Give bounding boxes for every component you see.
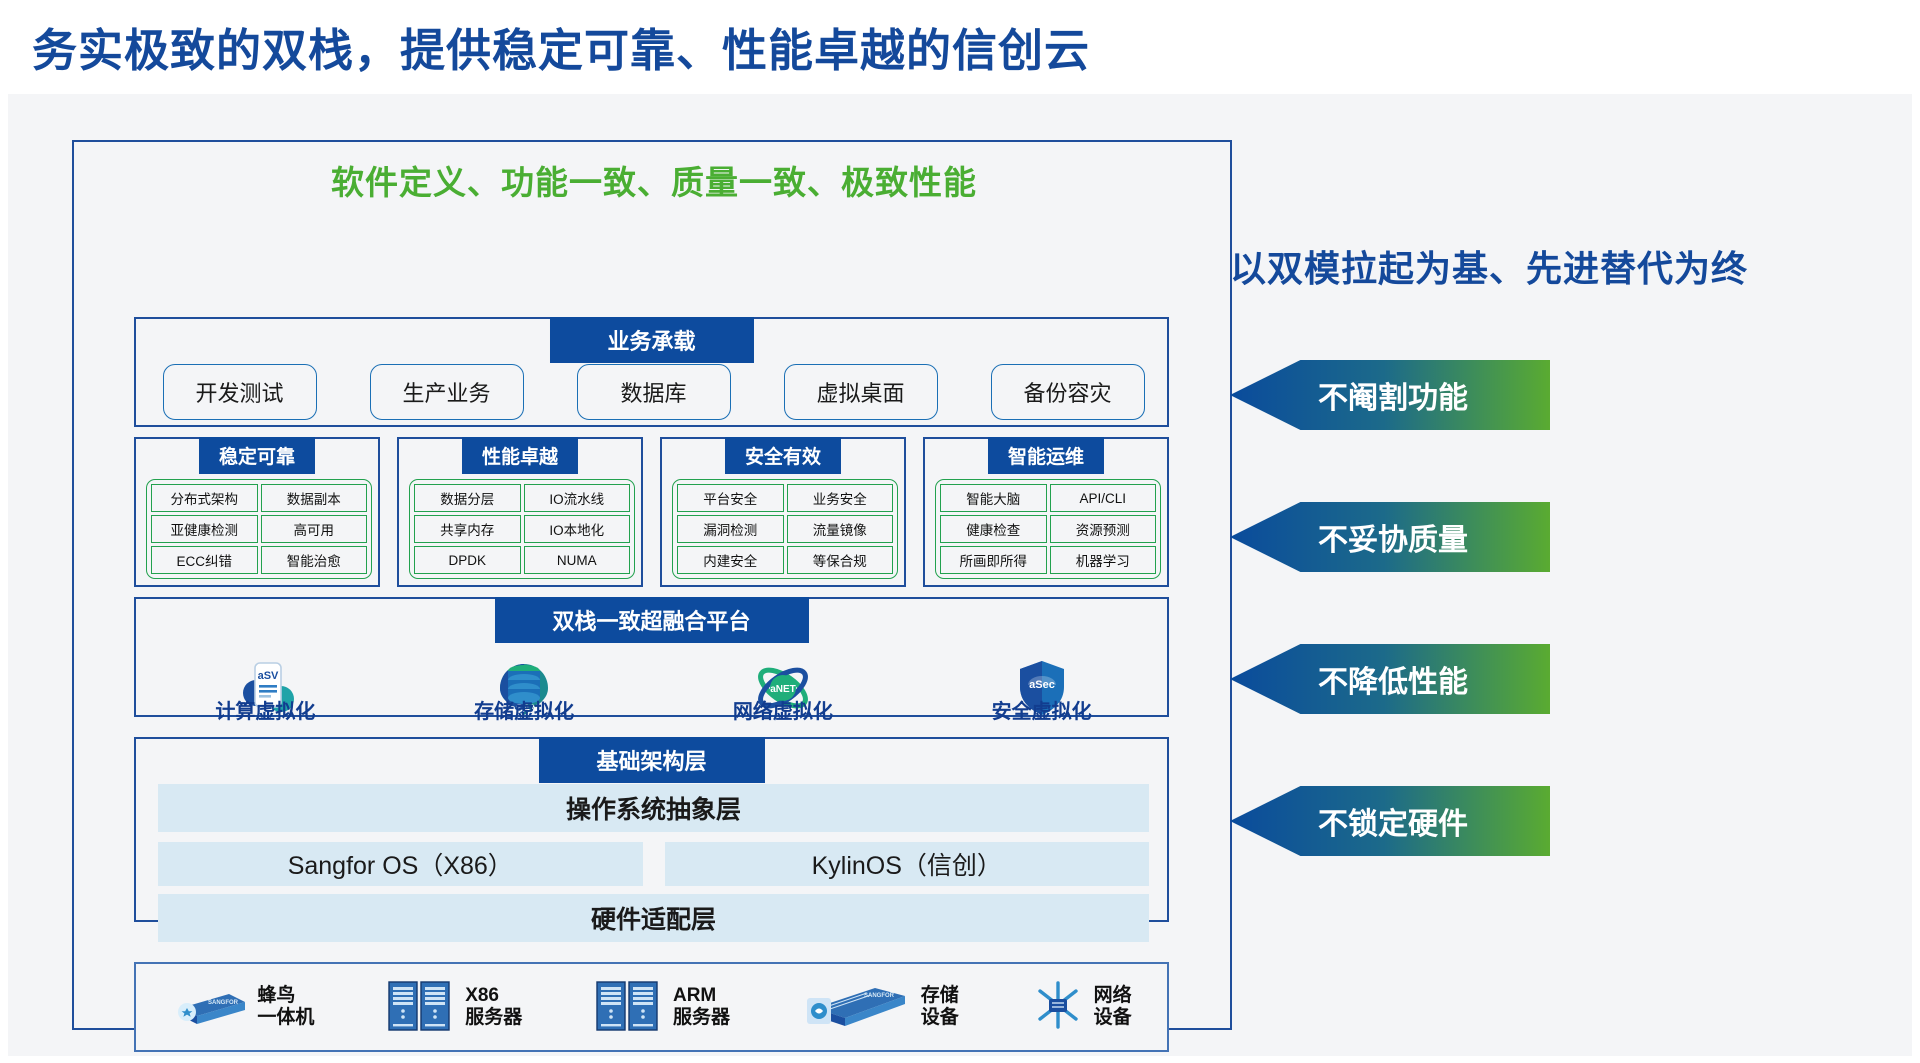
capability-chip[interactable]: 共享内存 — [414, 515, 521, 543]
capability-chip[interactable]: IO流水线 — [524, 484, 631, 512]
os-option-row: Sangfor OS（X86） KylinOS（信创） — [158, 842, 1149, 886]
capability-chip[interactable]: 高可用 — [261, 515, 368, 543]
promise-banner-4[interactable]: 不锁定硬件 — [1230, 786, 1550, 856]
hardware-label-line2: 服务器 — [673, 1007, 730, 1028]
promise-banner-3[interactable]: 不降低性能 — [1230, 644, 1550, 714]
workload-section: 业务承载 开发测试 生产业务 数据库 虚拟桌面 备份容灾 — [134, 317, 1169, 427]
capability-chip[interactable]: ECC纠错 — [151, 546, 258, 574]
hardware-item-arm[interactable]: ARM 服务器 — [593, 976, 730, 1039]
capability-chip[interactable]: 健康检查 — [940, 515, 1047, 543]
capability-row: 稳定可靠 分布式架构 数据副本 亚健康检测 高可用 ECC纠错 智能治愈 性能卓… — [134, 437, 1169, 587]
capability-chip[interactable]: 数据分层 — [414, 484, 521, 512]
hci-label-row: 计算虚拟化 存储虚拟化 网络虚拟化 安全虚拟化 — [136, 691, 1171, 724]
hardware-label-line2: 一体机 — [257, 1007, 314, 1028]
workload-box[interactable]: 备份容灾 — [991, 364, 1145, 420]
promise-banner-1[interactable]: 不阉割功能 — [1230, 360, 1550, 430]
capability-title: 性能卓越 — [462, 437, 578, 474]
capability-chip[interactable]: 平台安全 — [677, 484, 784, 512]
right-panel-title: 以双模拉起为基、先进替代为终 — [1230, 240, 1880, 292]
capability-chip[interactable]: 数据副本 — [261, 484, 368, 512]
hardware-label-line1: X86 — [465, 985, 499, 1006]
hardware-item-storage[interactable]: SANGFOR 存储 设备 — [801, 978, 959, 1037]
os-abstraction-bar: 操作系统抽象层 — [158, 784, 1149, 832]
capability-column-security: 安全有效 平台安全 业务安全 漏洞检测 流量镜像 内建安全 等保合规 — [660, 437, 906, 587]
os-option-sangfor[interactable]: Sangfor OS（X86） — [158, 842, 643, 886]
capability-chip[interactable]: 分布式架构 — [151, 484, 258, 512]
hardware-label-line2: 设备 — [921, 1007, 959, 1028]
capability-chip-grid: 平台安全 业务安全 漏洞检测 流量镜像 内建安全 等保合规 — [672, 479, 898, 579]
capability-column-stability: 稳定可靠 分布式架构 数据副本 亚健康检测 高可用 ECC纠错 智能治愈 — [134, 437, 380, 587]
server-rack-icon — [385, 976, 457, 1039]
promise-banner-label: 不降低性能 — [1318, 657, 1468, 701]
capability-chip[interactable]: 亚健康检测 — [151, 515, 258, 543]
workload-box[interactable]: 开发测试 — [163, 364, 317, 420]
capability-chip[interactable]: 等保合规 — [787, 546, 894, 574]
page-title: 务实极致的双栈，提供稳定可靠、性能卓越的信创云 — [32, 14, 1090, 79]
hardware-adaptation-bar: 硬件适配层 — [158, 894, 1149, 942]
hardware-label-line2: 服务器 — [465, 1007, 522, 1028]
capability-chip[interactable]: 机器学习 — [1050, 546, 1157, 574]
os-option-kylin[interactable]: KylinOS（信创） — [665, 842, 1150, 886]
workload-box[interactable]: 虚拟桌面 — [784, 364, 938, 420]
architecture-diagram: 软件定义、功能一致、质量一致、极致性能 业务承载 开发测试 生产业务 数据库 虚… — [72, 140, 1232, 1030]
svg-text:aSV: aSV — [258, 670, 279, 682]
capability-chip[interactable]: 业务安全 — [787, 484, 894, 512]
diagram-heading: 软件定义、功能一致、质量一致、极致性能 — [74, 156, 1234, 204]
infrastructure-band-title: 基础架构层 — [538, 737, 764, 783]
hardware-label: 网络 设备 — [1094, 985, 1132, 1029]
hardware-label-line2: 设备 — [1094, 1007, 1132, 1028]
capability-title: 安全有效 — [725, 437, 841, 474]
capability-section: 稳定可靠 分布式架构 数据副本 亚健康检测 高可用 ECC纠错 智能治愈 性能卓… — [134, 437, 1169, 587]
workload-row: 开发测试 生产业务 数据库 虚拟桌面 备份容灾 — [136, 364, 1171, 420]
hardware-item-network[interactable]: 网络 设备 — [1030, 977, 1132, 1038]
svg-text:SANGFOR: SANGFOR — [864, 993, 895, 999]
hardware-label: X86 服务器 — [465, 985, 522, 1029]
capability-chip-grid: 智能大脑 API/CLI 健康检查 资源预测 所画即所得 机器学习 — [935, 479, 1161, 579]
hardware-label-line1: 存储 — [921, 985, 959, 1006]
server-rack-icon — [593, 976, 665, 1039]
workload-band-title: 业务承载 — [549, 317, 753, 363]
promise-banner-label: 不阉割功能 — [1318, 373, 1468, 417]
hci-platform-section: 双栈一致超融合平台 aSV — [134, 597, 1169, 717]
svg-text:SANGFOR: SANGFOR — [208, 1000, 239, 1006]
capability-chip[interactable]: 所画即所得 — [940, 546, 1047, 574]
capability-chip[interactable]: IO本地化 — [524, 515, 631, 543]
capability-chip[interactable]: 流量镜像 — [787, 515, 894, 543]
svg-text:aSec: aSec — [1029, 679, 1055, 691]
hummingbird-appliance-icon: SANGFOR — [171, 982, 249, 1033]
hardware-section: SANGFOR 蜂鸟 一体机 — [134, 962, 1169, 1052]
capability-chip[interactable]: 漏洞检测 — [677, 515, 784, 543]
capability-chip[interactable]: DPDK — [414, 546, 521, 574]
hci-label: 计算虚拟化 — [165, 695, 365, 724]
hardware-label: ARM 服务器 — [673, 985, 730, 1029]
hardware-item-x86[interactable]: X86 服务器 — [385, 976, 522, 1039]
capability-chip[interactable]: 资源预测 — [1050, 515, 1157, 543]
capability-chip-grid: 分布式架构 数据副本 亚健康检测 高可用 ECC纠错 智能治愈 — [146, 479, 372, 579]
hci-label: 存储虚拟化 — [424, 695, 624, 724]
workload-box[interactable]: 生产业务 — [370, 364, 524, 420]
capability-chip[interactable]: API/CLI — [1050, 484, 1157, 512]
promise-banner-label: 不锁定硬件 — [1318, 799, 1468, 843]
storage-array-icon: SANGFOR — [801, 978, 913, 1037]
promise-banner-label: 不妥协质量 — [1318, 515, 1468, 559]
hardware-label-line1: 网络 — [1094, 985, 1132, 1006]
hardware-label: 存储 设备 — [921, 985, 959, 1029]
capability-chip[interactable]: 内建安全 — [677, 546, 784, 574]
hardware-label: 蜂鸟 一体机 — [257, 985, 314, 1029]
promise-banner-2[interactable]: 不妥协质量 — [1230, 502, 1550, 572]
hci-label: 安全虚拟化 — [942, 695, 1142, 724]
hardware-label-line1: 蜂鸟 — [257, 985, 295, 1006]
capability-chip-grid: 数据分层 IO流水线 共享内存 IO本地化 DPDK NUMA — [409, 479, 635, 579]
capability-column-performance: 性能卓越 数据分层 IO流水线 共享内存 IO本地化 DPDK NUMA — [397, 437, 643, 587]
capability-chip[interactable]: 智能治愈 — [261, 546, 368, 574]
capability-title: 智能运维 — [988, 437, 1104, 474]
hci-label: 网络虚拟化 — [683, 695, 883, 724]
capability-chip[interactable]: 智能大脑 — [940, 484, 1047, 512]
right-panel: 以双模拉起为基、先进替代为终 不阉割功能 不妥协质量 不降低性能 不锁定硬件 — [1230, 240, 1880, 856]
hardware-label-line1: ARM — [673, 985, 716, 1006]
hardware-item-hummingbird[interactable]: SANGFOR 蜂鸟 一体机 — [171, 982, 314, 1033]
network-switch-icon — [1030, 977, 1086, 1038]
workload-box[interactable]: 数据库 — [577, 364, 731, 420]
capability-column-aiops: 智能运维 智能大脑 API/CLI 健康检查 资源预测 所画即所得 机器学习 — [923, 437, 1169, 587]
capability-chip[interactable]: NUMA — [524, 546, 631, 574]
capability-title: 稳定可靠 — [199, 437, 315, 474]
infrastructure-section: 基础架构层 操作系统抽象层 Sangfor OS（X86） KylinOS（信创… — [134, 737, 1169, 922]
